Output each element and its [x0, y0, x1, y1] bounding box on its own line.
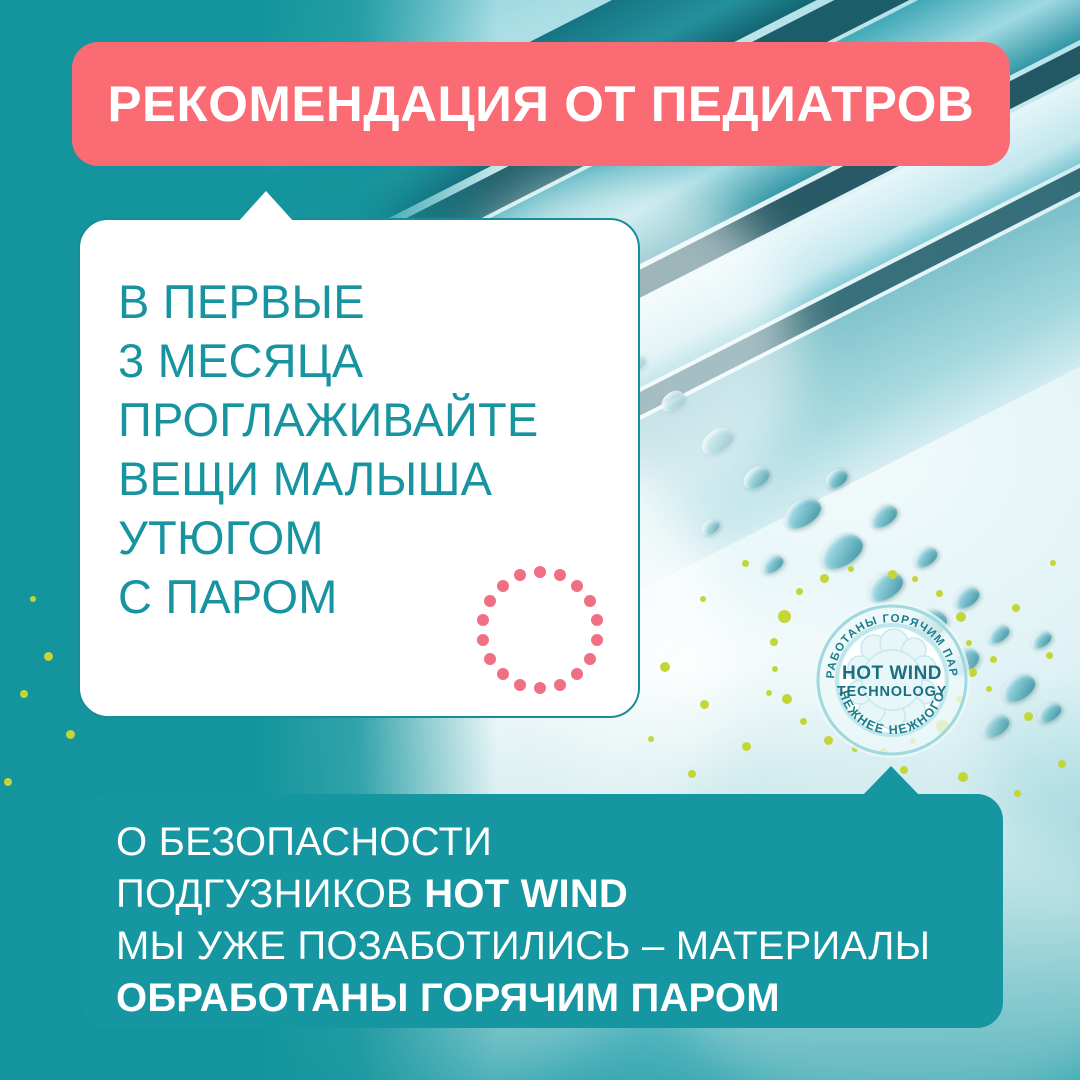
pink-dot	[534, 566, 546, 578]
pink-dot	[514, 679, 526, 691]
pink-dot	[554, 569, 566, 581]
green-dot	[990, 656, 997, 663]
pink-dot	[484, 595, 496, 607]
green-dot	[688, 770, 696, 778]
advice-line: УТЮГОМ	[118, 508, 618, 567]
green-dot	[1058, 760, 1066, 768]
pink-dot	[534, 682, 546, 694]
green-dot	[770, 638, 778, 646]
brand-name-hot-wind: HOT WIND	[424, 872, 628, 916]
green-dot	[1024, 712, 1033, 721]
badge-seal-icon: ОБРАБОТАНЫ ГОРЯЧИМ ПАРОМ НЕЖНЕЕ НЕЖНОГО …	[812, 600, 972, 760]
green-dot	[912, 576, 918, 582]
green-dot	[30, 596, 36, 602]
green-dot	[66, 730, 75, 739]
green-dot	[742, 560, 749, 567]
green-dot	[4, 778, 12, 786]
pink-dot	[497, 668, 509, 680]
green-dot	[742, 742, 751, 751]
badge-center-line1: HOT WIND	[842, 663, 942, 684]
safety-line-1: О БЕЗОПАСНОСТИ	[116, 816, 987, 868]
pink-dot	[571, 580, 583, 592]
green-dot	[44, 652, 53, 661]
green-dot	[660, 662, 670, 672]
green-dot	[772, 666, 778, 672]
safety-line-4-bold: ОБРАБОТАНЫ ГОРЯЧИМ ПАРОМ	[116, 976, 780, 1020]
pink-dotted-circle-icon	[476, 566, 604, 694]
pink-dot	[477, 614, 489, 626]
pink-dot	[591, 614, 603, 626]
safety-panel: О БЕЗОПАСНОСТИ ПОДГУЗНИКОВ HOT WIND МЫ У…	[80, 794, 1003, 1028]
green-dot	[700, 596, 706, 602]
safety-line-2: ПОДГУЗНИКОВ HOT WIND	[116, 868, 987, 920]
safety-line-4: ОБРАБОТАНЫ ГОРЯЧИМ ПАРОМ	[116, 972, 987, 1024]
pink-dot	[584, 595, 596, 607]
green-dot	[796, 588, 803, 595]
green-dot	[648, 736, 654, 742]
page-title: РЕКОМЕНДАЦИЯ ОТ ПЕДИАТРОВ	[108, 79, 975, 129]
header-banner: РЕКОМЕНДАЦИЯ ОТ ПЕДИАТРОВ	[72, 42, 1010, 166]
pink-dot	[514, 569, 526, 581]
green-dot	[820, 574, 829, 583]
pink-dot	[571, 668, 583, 680]
advice-line: ПРОГЛАЖИВАЙТЕ	[118, 390, 618, 449]
advice-line: ВЕЩИ МАЛЫША	[118, 449, 618, 508]
safety-text: О БЕЗОПАСНОСТИ ПОДГУЗНИКОВ HOT WIND МЫ У…	[116, 816, 987, 1024]
pink-dot	[497, 580, 509, 592]
green-dot	[1046, 652, 1053, 659]
green-dot	[936, 590, 943, 597]
safety-line-2-prefix: ПОДГУЗНИКОВ	[116, 872, 424, 916]
advice-line: В ПЕРВЫЕ	[118, 272, 618, 331]
badge-center-line2: TECHNOLOGY	[837, 684, 947, 700]
hot-wind-badge: ОБРАБОТАНЫ ГОРЯЧИМ ПАРОМ НЕЖНЕЕ НЕЖНОГО …	[760, 560, 1010, 800]
promo-poster: РЕКОМЕНДАЦИЯ ОТ ПЕДИАТРОВ В ПЕРВЫЕ 3 МЕС…	[0, 0, 1080, 1080]
pink-dot	[484, 653, 496, 665]
pink-dot	[591, 634, 603, 646]
green-dot	[888, 570, 897, 579]
green-dot	[1014, 790, 1021, 797]
safety-line-3: МЫ УЖЕ ПОЗАБОТИЛИСЬ – МАТЕРИАЛЫ	[116, 920, 987, 972]
pink-dot	[554, 679, 566, 691]
green-dot	[1012, 604, 1020, 612]
advice-line: 3 МЕСЯЦА	[118, 331, 618, 390]
green-dot	[778, 610, 791, 623]
green-dot	[782, 694, 792, 704]
pink-dot	[584, 653, 596, 665]
green-dot	[800, 718, 807, 725]
pink-dot	[477, 634, 489, 646]
green-dot	[20, 690, 28, 698]
green-dot	[848, 566, 854, 572]
green-dot	[700, 700, 709, 709]
green-dot	[986, 686, 992, 692]
green-dot	[1050, 560, 1056, 566]
green-dot	[766, 690, 772, 696]
